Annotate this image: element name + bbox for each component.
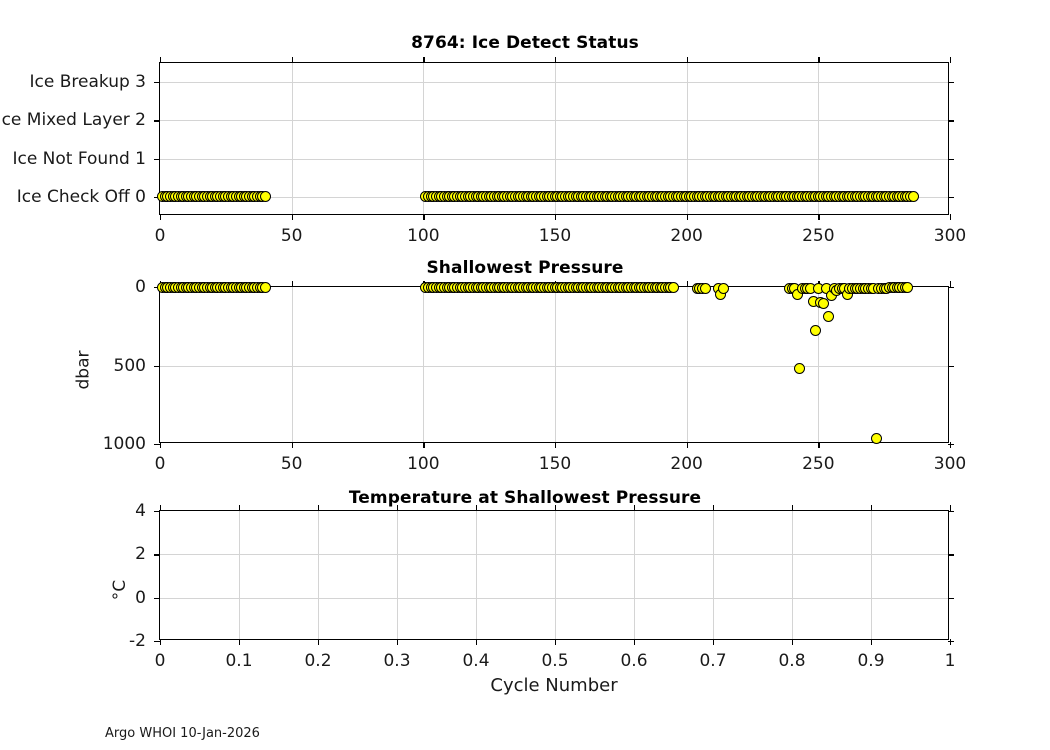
x-tick-mark-top [634,505,635,511]
x-tick-mark [160,214,161,220]
x-tick-label: 0.9 [857,651,884,671]
x-tick-label: 0.4 [462,651,489,671]
gridline-vertical [634,511,635,639]
x-tick-mark [160,442,161,448]
x-tick-mark [292,214,293,220]
y-tick-mark-right [948,159,954,160]
y-tick-label: 500 [114,356,146,376]
x-tick-mark-top [292,57,293,63]
x-tick-mark-top [950,281,951,287]
y-tick-label: 2 [135,544,146,564]
y-tick-label: 0 [135,588,146,608]
gridline-vertical [292,287,293,442]
y-tick-label: Ice Check Off 0 [17,187,146,207]
x-tick-mark-top [160,57,161,63]
gridline-horizontal [160,120,948,121]
data-point-marker [908,191,919,202]
y-tick-mark [154,511,160,512]
data-point-marker [260,282,271,293]
x-tick-mark-top [687,57,688,63]
axis-label-dbar: dbar [74,351,94,390]
x-tick-label: 0 [155,226,166,246]
y-tick-mark [154,159,160,160]
y-tick-mark-right [948,511,954,512]
y-tick-mark-right [948,598,954,599]
gridline-horizontal [160,82,948,83]
axes-shallowest-pressure: 05001000050100150200250300 [159,286,949,443]
x-tick-mark [871,639,872,645]
y-tick-mark [154,366,160,367]
gridline-vertical [476,511,477,639]
argo-ice-detect-figure: 8764: Ice Detect Status Ice Check Off 0I… [0,0,1050,750]
axes-temperature: -202400.10.20.30.40.50.60.70.80.91 [159,510,949,640]
x-tick-mark-top [818,57,819,63]
x-tick-mark-top [160,505,161,511]
y-tick-label: Ice Not Found 1 [12,149,146,169]
x-tick-label: 150 [539,226,571,246]
gridline-vertical [555,511,556,639]
y-tick-label: Ice Mixed Layer 2 [0,110,146,130]
x-tick-mark [555,214,556,220]
x-tick-label: 0.5 [541,651,568,671]
data-point-marker [871,433,882,444]
x-tick-mark [818,442,819,448]
x-tick-label: 1 [945,651,956,671]
x-tick-mark [950,442,951,448]
y-tick-label: 4 [135,501,146,521]
x-tick-mark-top [555,505,556,511]
x-tick-mark [476,639,477,645]
x-tick-label: 0.7 [699,651,726,671]
x-tick-mark [687,214,688,220]
data-point-marker [700,283,711,294]
x-tick-mark [239,639,240,645]
gridline-vertical [555,287,556,442]
x-tick-mark-top [555,57,556,63]
gridline-vertical [318,511,319,639]
axis-label-degc: °C [110,580,130,600]
x-tick-mark [713,639,714,645]
x-tick-mark [634,639,635,645]
x-tick-mark [160,639,161,645]
x-tick-label: 0.6 [620,651,647,671]
gridline-horizontal [160,159,948,160]
gridline-vertical [818,287,819,442]
x-tick-label: 200 [670,454,702,474]
gridline-vertical [792,511,793,639]
gridline-horizontal [160,366,948,367]
y-tick-mark-right [948,197,954,198]
x-tick-mark [292,442,293,448]
x-tick-mark-top [423,57,424,63]
x-tick-mark [950,214,951,220]
x-tick-mark-top [239,505,240,511]
x-tick-label: 200 [670,226,702,246]
gridline-horizontal [160,598,948,599]
x-tick-label: 300 [934,454,966,474]
y-tick-mark [154,554,160,555]
gridline-horizontal [160,554,948,555]
x-tick-mark [397,639,398,645]
y-tick-mark-right [948,82,954,83]
subplot-shallowest-pressure: Shallowest Pressure dbar 050010000501001… [0,250,1050,490]
y-tick-mark [154,82,160,83]
x-tick-mark [792,639,793,645]
x-tick-mark [423,214,424,220]
x-tick-label: 250 [802,454,834,474]
y-tick-mark-right [948,366,954,367]
x-tick-mark-top [950,505,951,511]
data-point-marker [810,325,821,336]
x-tick-mark [318,639,319,645]
y-tick-label: Ice Breakup 3 [30,72,147,92]
x-tick-mark-top [397,505,398,511]
x-tick-mark [687,442,688,448]
y-tick-mark-right [948,287,954,288]
x-tick-mark-top [318,505,319,511]
data-point-marker [718,283,729,294]
x-tick-label: 250 [802,226,834,246]
x-tick-label: 100 [407,454,439,474]
gridline-vertical [292,63,293,214]
data-point-marker [260,191,271,202]
y-tick-mark-right [948,120,954,121]
axis-label-cycle-number: Cycle Number [159,675,949,696]
gridline-vertical [239,511,240,639]
gridline-vertical [423,287,424,442]
x-tick-mark [555,639,556,645]
y-tick-label: -2 [129,631,146,651]
plot-title-temperature: Temperature at Shallowest Pressure [0,488,1050,508]
x-tick-label: 0.2 [304,651,331,671]
y-tick-label: 0 [135,277,146,297]
plot-title-ice-detect-status: 8764: Ice Detect Status [0,33,1050,53]
data-point-marker [902,282,913,293]
gridline-vertical [687,287,688,442]
figure-footer: Argo WHOI 10-Jan-2026 [105,726,260,741]
x-tick-mark [423,442,424,448]
x-tick-mark [555,442,556,448]
subplot-ice-detect-status: 8764: Ice Detect Status Ice Check Off 0I… [0,0,1050,250]
plot-title-shallowest-pressure: Shallowest Pressure [0,258,1050,278]
x-tick-mark-top [950,57,951,63]
x-tick-mark-top [792,505,793,511]
x-tick-label: 150 [539,454,571,474]
x-tick-label: 0.1 [225,651,252,671]
x-tick-label: 50 [281,226,303,246]
data-point-marker [668,282,679,293]
gridline-vertical [397,511,398,639]
x-tick-mark-top [476,505,477,511]
data-point-marker [794,363,805,374]
x-tick-mark-top [292,281,293,287]
data-point-marker [823,311,834,322]
gridline-vertical [871,511,872,639]
y-tick-mark [154,598,160,599]
x-tick-mark [818,214,819,220]
x-tick-label: 0 [155,454,166,474]
x-tick-label: 0.8 [778,651,805,671]
x-tick-label: 50 [281,454,303,474]
x-tick-mark [950,639,951,645]
subplot-temperature: Temperature at Shallowest Pressure °C -2… [0,480,1050,730]
x-tick-mark-top [687,281,688,287]
y-tick-label: 1000 [103,434,146,454]
x-tick-label: 100 [407,226,439,246]
gridline-vertical [713,511,714,639]
x-tick-label: 0 [155,651,166,671]
y-tick-mark [154,120,160,121]
x-tick-mark-top [713,505,714,511]
x-tick-label: 0.3 [383,651,410,671]
x-tick-label: 300 [934,226,966,246]
axes-ice-detect-status: Ice Check Off 0Ice Not Found 1Ice Mixed … [159,62,949,215]
y-tick-mark-right [948,554,954,555]
x-tick-mark-top [871,505,872,511]
